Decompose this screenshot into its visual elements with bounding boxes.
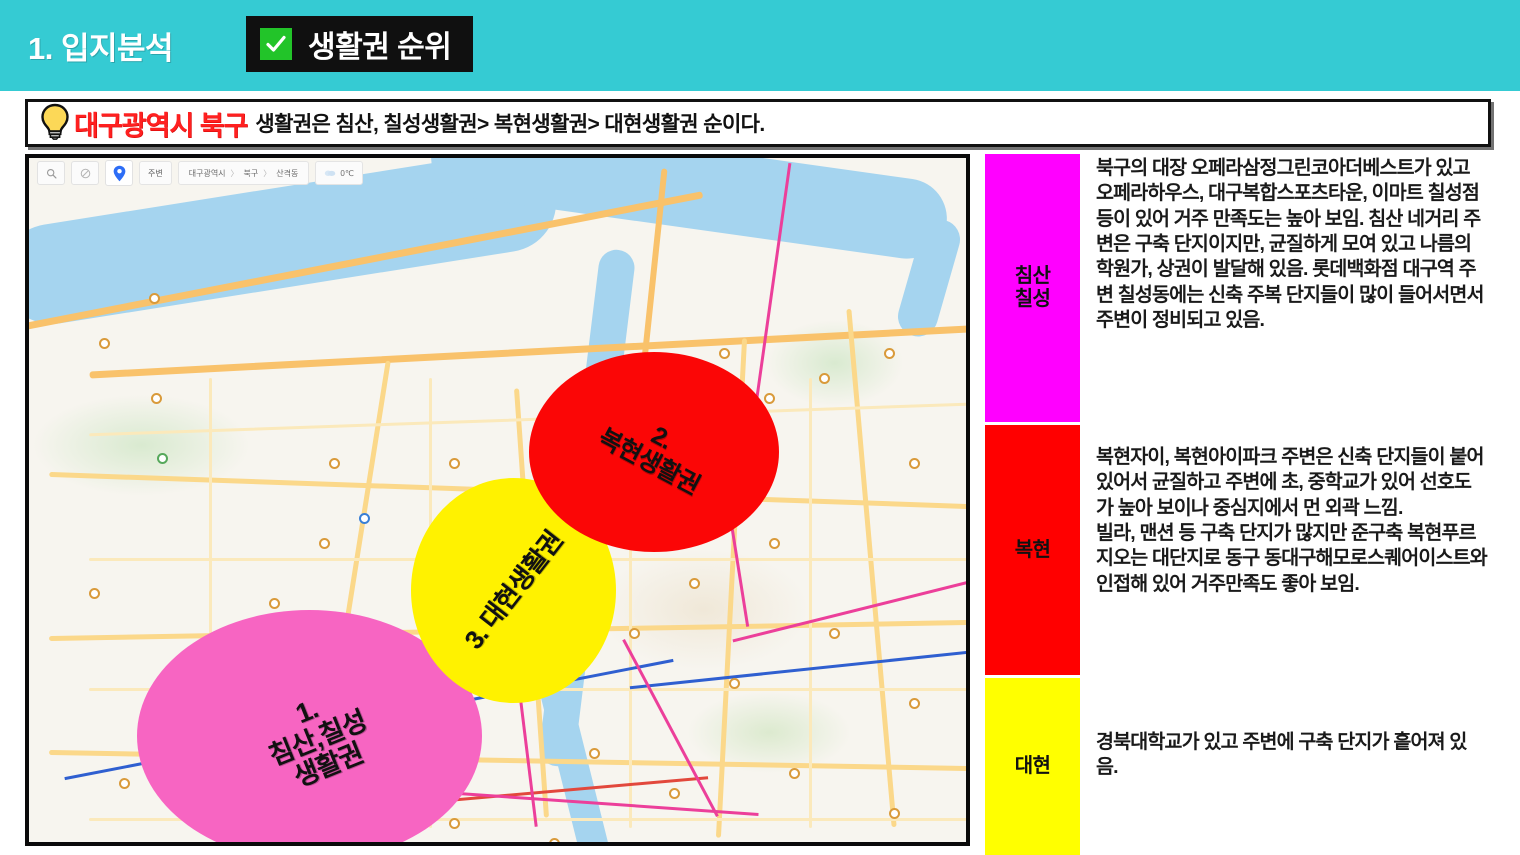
map-poi[interactable] <box>719 348 730 359</box>
map-poi[interactable] <box>151 393 162 404</box>
search-icon[interactable] <box>37 161 65 185</box>
lightbulb-icon <box>38 102 72 145</box>
check-icon <box>260 28 292 60</box>
map-poi[interactable] <box>884 348 895 359</box>
zone-label-chimsan: 1.침산,칠성 생활권 <box>254 680 381 799</box>
map-poi[interactable] <box>829 628 840 639</box>
legend-description: 경북대학교가 있고 주변에 구축 단지가 흩어져 있음. <box>1080 678 1495 855</box>
subtitle-statement: 생활권은 침산, 칠성생활권> 복현생활권> 대현생활권 순이다. <box>255 108 764 138</box>
subtitle-banner: 대구광역시 북구 생활권은 침산, 칠성생활권> 복현생활권> 대현생활권 순이… <box>25 99 1491 147</box>
zone-label-daehyeon: 3. 대현생활권 <box>459 526 568 654</box>
map-poi[interactable] <box>119 778 130 789</box>
map-poi[interactable] <box>269 598 280 609</box>
table-row: 대현 경북대학교가 있고 주변에 구축 단지가 흩어져 있음. <box>985 678 1495 855</box>
road-vertical-4 <box>846 309 896 827</box>
zone-label-bokhyeon: 2.복현생활권 <box>594 401 716 500</box>
map-poi[interactable] <box>99 338 110 349</box>
legend-description: 북구의 대장 오페라삼정그린코아더베스트가 있고 오페라하우스, 대구복합스포츠… <box>1080 154 1495 422</box>
map-toolbar[interactable]: 주변 대구광역시 〉 북구 〉 산격동 0℃ <box>29 158 970 188</box>
breadcrumb-separator: 〉 <box>263 168 271 179</box>
circle-slash-icon[interactable] <box>71 161 99 185</box>
map-canvas[interactable]: 1.침산,칠성 생활권 3. 대현생활권 2.복현생활권 <box>29 158 966 842</box>
map-poi[interactable] <box>789 768 800 779</box>
header-band: 1. 입지분석 생활권 순위 <box>0 0 1520 91</box>
road-local-v4 <box>809 378 812 828</box>
weather-widget[interactable]: 0℃ <box>315 161 362 185</box>
map-poi[interactable] <box>149 293 160 304</box>
location-pin-icon[interactable] <box>105 160 133 186</box>
map-panel[interactable]: 1.침산,칠성 생활권 3. 대현생활권 2.복현생활권 <box>25 154 970 846</box>
status-badge: 대현 <box>985 678 1080 855</box>
map-poi[interactable] <box>729 678 740 689</box>
cloud-icon <box>324 168 336 179</box>
breadcrumb-item-dong[interactable]: 산격동 <box>276 168 298 179</box>
status-badge: 복현 <box>985 425 1080 675</box>
map-poi[interactable] <box>669 788 680 799</box>
section-chip: 생활권 순위 <box>246 16 473 72</box>
legend-table: 침산 칠성 북구의 대장 오페라삼정그린코아더베스트가 있고 오페라하우스, 대… <box>985 154 1495 854</box>
zone-ellipse-bokhyeon[interactable]: 2.복현생활권 <box>529 352 779 552</box>
breadcrumb[interactable]: 대구광역시 〉 북구 〉 산격동 <box>178 161 310 185</box>
map-poi[interactable] <box>449 458 460 469</box>
legend-description: 복현자이, 복현아이파크 주변은 신축 단지들이 붙어 있어서 균질하고 주변에… <box>1080 425 1495 675</box>
map-poi[interactable] <box>89 588 100 599</box>
nearby-button[interactable]: 주변 <box>139 161 172 185</box>
map-poi[interactable] <box>819 373 830 384</box>
table-row: 침산 칠성 북구의 대장 오페라삼정그린코아더베스트가 있고 오페라하우스, 대… <box>985 154 1495 422</box>
map-poi[interactable] <box>909 698 920 709</box>
map-poi[interactable] <box>889 808 900 819</box>
map-poi[interactable] <box>909 458 920 469</box>
map-poi[interactable] <box>764 393 775 404</box>
map-poi[interactable] <box>589 748 600 759</box>
table-row: 복현 복현자이, 복현아이파크 주변은 신축 단지들이 붙어 있어서 균질하고 … <box>985 425 1495 675</box>
map-poi[interactable] <box>689 578 700 589</box>
map-poi[interactable] <box>629 628 640 639</box>
breadcrumb-item-city[interactable]: 대구광역시 <box>189 168 226 179</box>
map-poi[interactable] <box>359 513 370 524</box>
map-poi[interactable] <box>449 818 460 829</box>
map-poi[interactable] <box>319 538 330 549</box>
page-title: 1. 입지분석 <box>28 23 173 68</box>
breadcrumb-separator: 〉 <box>231 168 239 179</box>
section-chip-label: 생활권 순위 <box>308 22 451 66</box>
map-poi[interactable] <box>549 838 560 846</box>
breadcrumb-item-gu[interactable]: 북구 <box>244 168 259 179</box>
subway-line-blue-east <box>630 650 970 690</box>
status-badge: 침산 칠성 <box>985 154 1080 422</box>
map-poi[interactable] <box>329 458 340 469</box>
map-poi[interactable] <box>157 453 168 464</box>
map-poi[interactable] <box>769 538 780 549</box>
road-local-1 <box>89 403 969 437</box>
subtitle-region: 대구광역시 북구 <box>74 104 247 143</box>
temperature-value: 0℃ <box>340 169 353 178</box>
road-sincheon-daero <box>89 324 970 378</box>
district-boundary-f <box>732 577 970 643</box>
